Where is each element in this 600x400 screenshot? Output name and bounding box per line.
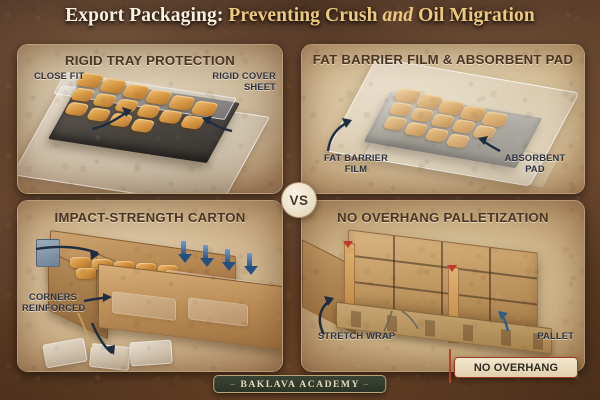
overhang-marker-icon [447, 265, 457, 272]
panel-rigid-tray-protection: RIGID TRAY PROTECTION CLOSE FIT RIGID CO… [17, 44, 283, 194]
label-corners-reinforced-line2: REINFORCED [22, 303, 84, 314]
vacuum-pouch-graphic [89, 343, 131, 371]
infographic-poster: Export Packaging: Preventing Crush and O… [0, 0, 600, 400]
footer-dash-right: – [363, 379, 369, 390]
label-fat-barrier-film: FAT BARRIER FILM [310, 153, 402, 174]
vs-badge: VS [281, 182, 317, 218]
panel-4-pointer-arrows [302, 201, 584, 371]
panel-2-illustration: FAT BARRIER FILM & ABSORBENT PAD FAT BAR… [302, 45, 584, 193]
label-corners-reinforced: CORNERS REINFORCED [22, 292, 84, 313]
title-main: Export Packaging: [65, 5, 223, 26]
panel-4-illustration: NO OVERHANG PALLETIZATION STRETCH WRAP P… [302, 201, 584, 371]
footer-dash-left: – [230, 379, 236, 390]
label-rigid-cover-sheet-line1: RIGID COVER [180, 71, 276, 82]
label-absorbent-pad: ABSORBENT PAD [492, 153, 578, 174]
rigid-cover-sheet-graphic [17, 85, 270, 194]
impact-test-weight-graphic [36, 239, 60, 267]
label-rigid-cover-sheet-line2: SHEET [180, 82, 276, 93]
carton-stack-side [302, 239, 356, 335]
baklava-pieces-grid [377, 87, 538, 155]
corner-post-graphic [448, 267, 459, 344]
label-pallet: PALLET [537, 331, 574, 342]
carton-front-wall [98, 263, 283, 350]
label-absorbent-pad-line2: PAD [492, 164, 578, 175]
label-rigid-cover-sheet: RIGID COVER SHEET [180, 71, 276, 92]
impact-arrow-icon [244, 253, 254, 275]
title-sub-b: Oil Migration [418, 5, 535, 26]
title-sub-a: Preventing Crush [228, 5, 377, 26]
label-corners-reinforced-line1: CORNERS [22, 292, 84, 303]
label-fat-barrier-film-line1: FAT BARRIER [310, 153, 402, 164]
panel-3-illustration: IMPACT-STRENGTH CARTON CORNERS REINFORCE… [18, 201, 282, 371]
panel-3-heading: IMPACT-STRENGTH CARTON [18, 210, 282, 225]
panel-no-overhang-palletization: NO OVERHANG PALLETIZATION STRETCH WRAP P… [301, 200, 585, 372]
panel-1-illustration: RIGID TRAY PROTECTION CLOSE FIT RIGID CO… [18, 45, 282, 193]
brand-footer: – BAKLAVA ACADEMY – [213, 375, 386, 393]
label-close-fit: CLOSE FIT [34, 71, 84, 82]
label-absorbent-pad-line1: ABSORBENT [492, 153, 578, 164]
panel-2-heading: FAT BARRIER FILM & ABSORBENT PAD [302, 52, 584, 67]
corner-post-graphic [344, 242, 355, 323]
impact-arrow-icon [178, 241, 188, 263]
no-overhang-badge: NO OVERHANG [454, 357, 578, 378]
label-stretch-wrap: STRETCH WRAP [318, 331, 395, 342]
panel-impact-strength-carton: IMPACT-STRENGTH CARTON CORNERS REINFORCE… [17, 200, 283, 372]
footer-brand: BAKLAVA ACADEMY [240, 379, 359, 390]
no-overhang-tick-mark [449, 349, 451, 383]
title-and: and [383, 5, 414, 26]
carton-corner-flap [96, 253, 116, 309]
panel-4-heading: NO OVERHANG PALLETIZATION [302, 210, 584, 225]
impact-arrow-icon [200, 245, 210, 267]
rigid-tray-illustration [50, 85, 246, 177]
label-fat-barrier-film-line2: FILM [310, 164, 402, 175]
panel-3-pointer-arrows [18, 201, 282, 371]
impact-arrow-icon [222, 249, 232, 271]
vacuum-pouch-graphic [42, 338, 88, 369]
vacuum-pouch-graphic [129, 340, 173, 367]
page-title: Export Packaging: Preventing Crush and O… [0, 5, 600, 27]
pallet-base-graphic [336, 302, 552, 355]
panel-1-heading: RIGID TRAY PROTECTION [18, 53, 282, 68]
overhang-marker-icon [343, 241, 353, 248]
panel-fat-barrier-film-absorbent-pad: FAT BARRIER FILM & ABSORBENT PAD FAT BAR… [301, 44, 585, 194]
carton-stack-graphic [348, 229, 538, 328]
